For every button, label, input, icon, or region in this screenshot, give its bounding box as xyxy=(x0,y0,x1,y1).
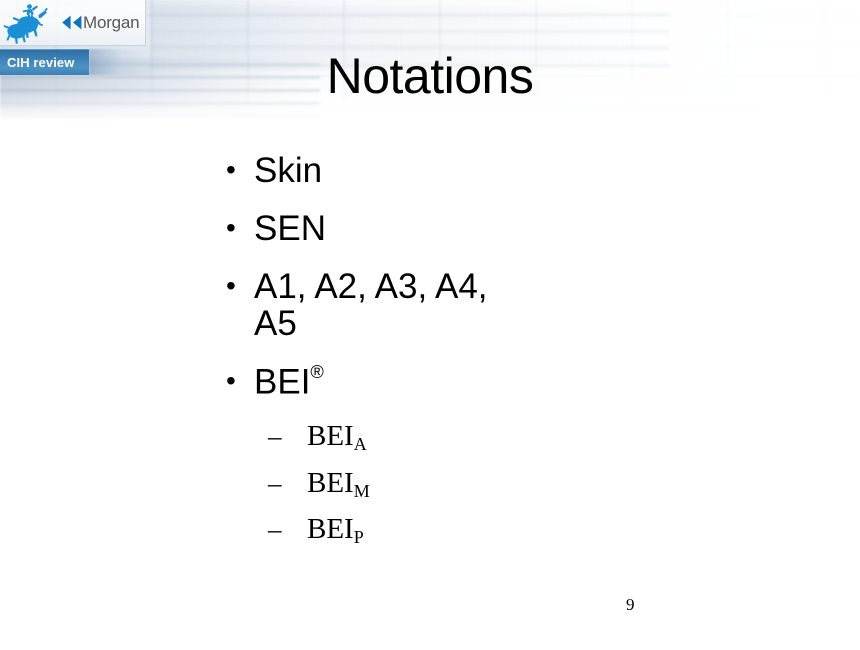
bullet-marker-icon: • xyxy=(216,268,254,305)
company-logo: Morgan xyxy=(0,0,146,46)
slide-content: • Skin • SEN • A1, A2, A3, A4, A5 • BEI®… xyxy=(216,152,636,561)
sub-bullet-text: BEIM xyxy=(307,468,370,498)
sub-bullet-subscript: A xyxy=(354,434,367,454)
sub-bullet-text: BEIA xyxy=(307,421,367,451)
list-item: • SEN xyxy=(216,210,636,248)
bullet-text: A1, A2, A3, A4, A5 xyxy=(254,268,516,344)
sub-bullet-list: – BEIA – BEIM – BEIP xyxy=(216,421,636,544)
bullet-text: SEN xyxy=(254,210,516,248)
bullet-marker-icon: • xyxy=(216,152,254,189)
double-chevron-mark xyxy=(61,15,83,30)
sub-list-item: – BEIP xyxy=(216,514,636,544)
logo-wordmark: Morgan xyxy=(83,14,139,31)
sub-bullet-subscript: P xyxy=(354,527,364,547)
sub-bullet-base: BEI xyxy=(307,513,354,545)
sub-bullet-text: BEIP xyxy=(307,514,364,544)
sub-list-item: – BEIM xyxy=(216,468,636,498)
sub-bullet-base: BEI xyxy=(307,420,354,452)
sub-list-item: – BEIA xyxy=(216,421,636,451)
bullet-marker-icon: • xyxy=(216,363,254,400)
dash-marker-icon: – xyxy=(216,469,307,497)
page-title: Notations xyxy=(0,51,860,101)
sub-bullet-base: BEI xyxy=(307,467,354,499)
page-number: 9 xyxy=(626,596,635,613)
bullet-text-base: BEI xyxy=(254,363,310,402)
list-item: • Skin xyxy=(216,152,636,190)
sub-bullet-subscript: M xyxy=(354,481,370,501)
dash-marker-icon: – xyxy=(216,515,307,543)
list-item: • A1, A2, A3, A4, A5 xyxy=(216,268,636,344)
presentation-slide: Morgan CIH review Notations • Skin • SEN… xyxy=(0,0,860,650)
dash-marker-icon: – xyxy=(216,422,307,450)
horse-rider-and-lion-emblem xyxy=(2,2,60,44)
bullet-text: Skin xyxy=(254,152,516,190)
bullet-text: BEI® xyxy=(254,363,516,401)
bullet-marker-icon: • xyxy=(216,210,254,247)
list-item: • BEI® xyxy=(216,363,636,401)
registered-trademark-icon: ® xyxy=(310,362,323,382)
